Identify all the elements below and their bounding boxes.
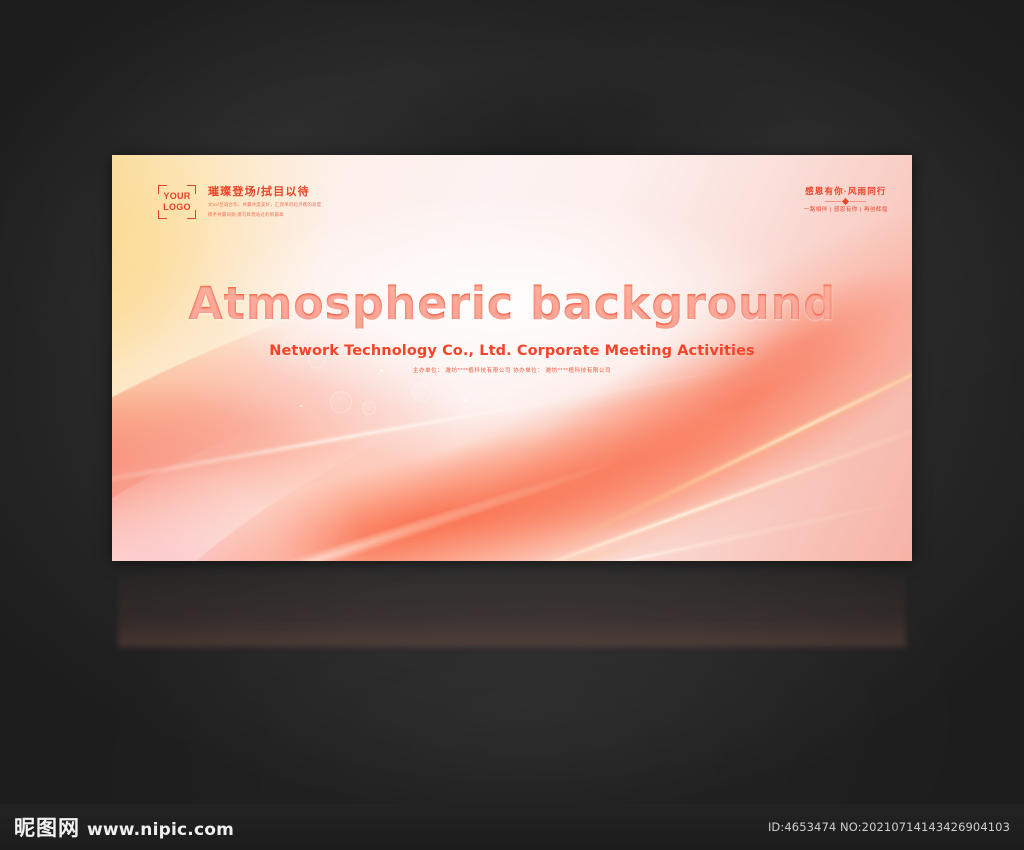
logo-corner-icon (187, 210, 196, 219)
header-right-title: 感恩有你·风雨同行 (804, 185, 888, 197)
bokeh-circle (412, 383, 431, 402)
bokeh-circle (330, 391, 352, 413)
bokeh-circle (362, 401, 376, 415)
sparkle-dot (300, 405, 302, 407)
banner-header-left: YOUR LOGO 璀璨登场/拭目以待 文así至诚合作，共赢共度美好，汇改革的… (158, 185, 321, 219)
ribbon-c (112, 189, 912, 561)
header-right-subtitle: 一路相伴 | 感恩有你 | 再创辉煌 (804, 206, 888, 215)
banner-organizer-line: 主办单位： 潍坊****植科技有限公司 协办单位： 潍坊****植科技有限公司 (112, 366, 912, 374)
header-left-text: 璀璨登场/拭目以待 文así至诚合作，共赢共度美好，汇改革的起点携的高度 携手共… (208, 185, 321, 218)
page-canvas: YOUR LOGO 璀璨登场/拭目以待 文así至诚合作，共赢共度美好，汇改革的… (0, 0, 1024, 850)
diamond-icon (842, 198, 849, 205)
site-brand: 昵图网 www.nipic.com (14, 812, 234, 842)
banner-main-title: Atmospheric background (112, 277, 912, 330)
backdrop-streak-4 (120, 600, 920, 820)
logo-corner-icon (187, 185, 196, 194)
sparkle-dot (430, 359, 432, 361)
ornament-bar-right (850, 201, 866, 202)
header-left-subline-1: 文así至诚合作，共赢共度美好，汇改革的起点携的高度 (208, 202, 321, 209)
footer-bar: 昵图网 www.nipic.com ID:4653474 NO:20210714… (0, 804, 1024, 850)
asset-id-text: ID:4653474 NO:20210714143426904103 (768, 820, 1010, 834)
brand-url: www.nipic.com (87, 820, 234, 840)
sparkle-dot (464, 399, 467, 402)
header-left-subline-2: 携手共赢同跑,携写辉煌站过的新篇章 (208, 212, 321, 219)
header-left-headline: 璀璨登场/拭目以待 (208, 185, 321, 199)
ornament-bar-left (825, 201, 841, 202)
banner-sub-title: Network Technology Co., Ltd. Corporate M… (112, 343, 912, 359)
banner-artwork: YOUR LOGO 璀璨登场/拭目以待 文así至诚合作，共赢共度美好，汇改革的… (112, 155, 912, 561)
brand-name-cn: 昵图网 (14, 812, 80, 842)
logo-corner-icon (158, 210, 167, 219)
logo-corner-icon (158, 185, 167, 194)
banner-header-right: 感恩有你·风雨同行 一路相伴 | 感恩有你 | 再创辉煌 (804, 185, 888, 215)
header-right-ornament (804, 199, 888, 204)
banner-reflection (118, 561, 906, 647)
logo-placeholder: YOUR LOGO (158, 185, 196, 219)
